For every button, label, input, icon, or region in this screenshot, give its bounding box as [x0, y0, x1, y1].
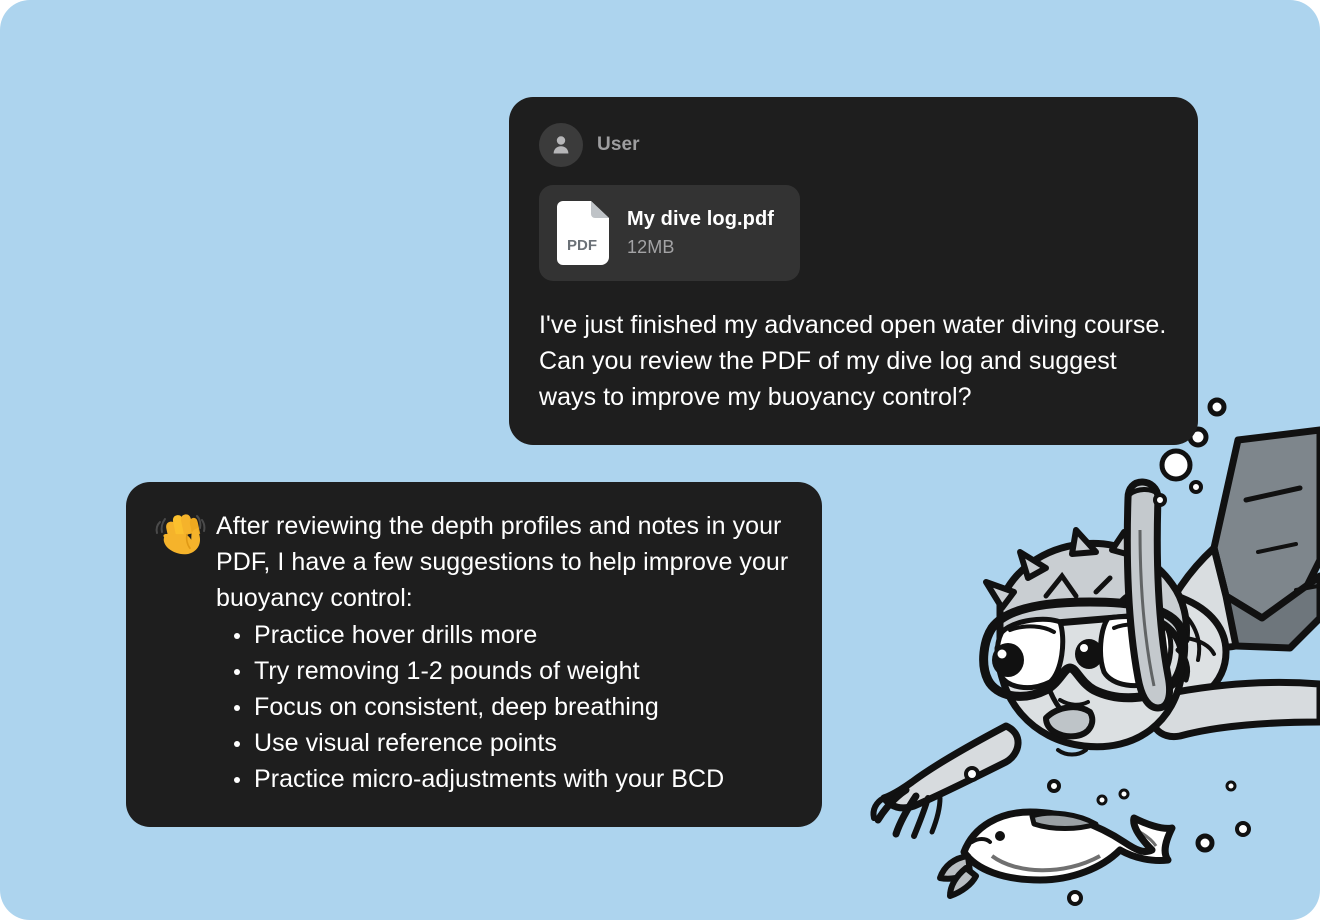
list-item: Use visual reference points — [216, 725, 794, 761]
user-message-header: User — [539, 123, 1168, 167]
attachment-filename: My dive log.pdf — [627, 208, 774, 231]
attachment-filesize: 12MB — [627, 237, 774, 258]
attachment-card-pdf[interactable]: PDF My dive log.pdf 12MB — [539, 185, 800, 281]
avatar — [539, 123, 583, 167]
list-item: Practice micro-adjustments with your BCD — [216, 761, 794, 797]
assistant-content: After reviewing the depth profiles and n… — [216, 508, 794, 797]
pdf-file-icon: PDF — [557, 201, 609, 265]
user-message-bubble: User PDF My dive log.pdf 12MB I've just … — [509, 97, 1198, 445]
list-item: Focus on consistent, deep breathing — [216, 689, 794, 725]
list-item: Practice hover drills more — [216, 617, 794, 653]
waving-hand-emoji — [154, 512, 206, 558]
assistant-intro-text: After reviewing the depth profiles and n… — [216, 508, 794, 616]
suggestion-list: Practice hover drills more Try removing … — [216, 617, 794, 797]
attachment-meta: My dive log.pdf 12MB — [627, 208, 774, 258]
chat-conversation: User PDF My dive log.pdf 12MB I've just … — [0, 0, 1320, 920]
list-item: Try removing 1-2 pounds of weight — [216, 653, 794, 689]
page-canvas: User PDF My dive log.pdf 12MB I've just … — [0, 0, 1320, 920]
assistant-message-bubble: After reviewing the depth profiles and n… — [126, 482, 822, 827]
person-icon — [549, 133, 573, 157]
user-name-label: User — [597, 134, 640, 156]
svg-text:PDF: PDF — [567, 237, 597, 254]
user-message-text: I've just finished my advanced open wate… — [539, 307, 1168, 415]
